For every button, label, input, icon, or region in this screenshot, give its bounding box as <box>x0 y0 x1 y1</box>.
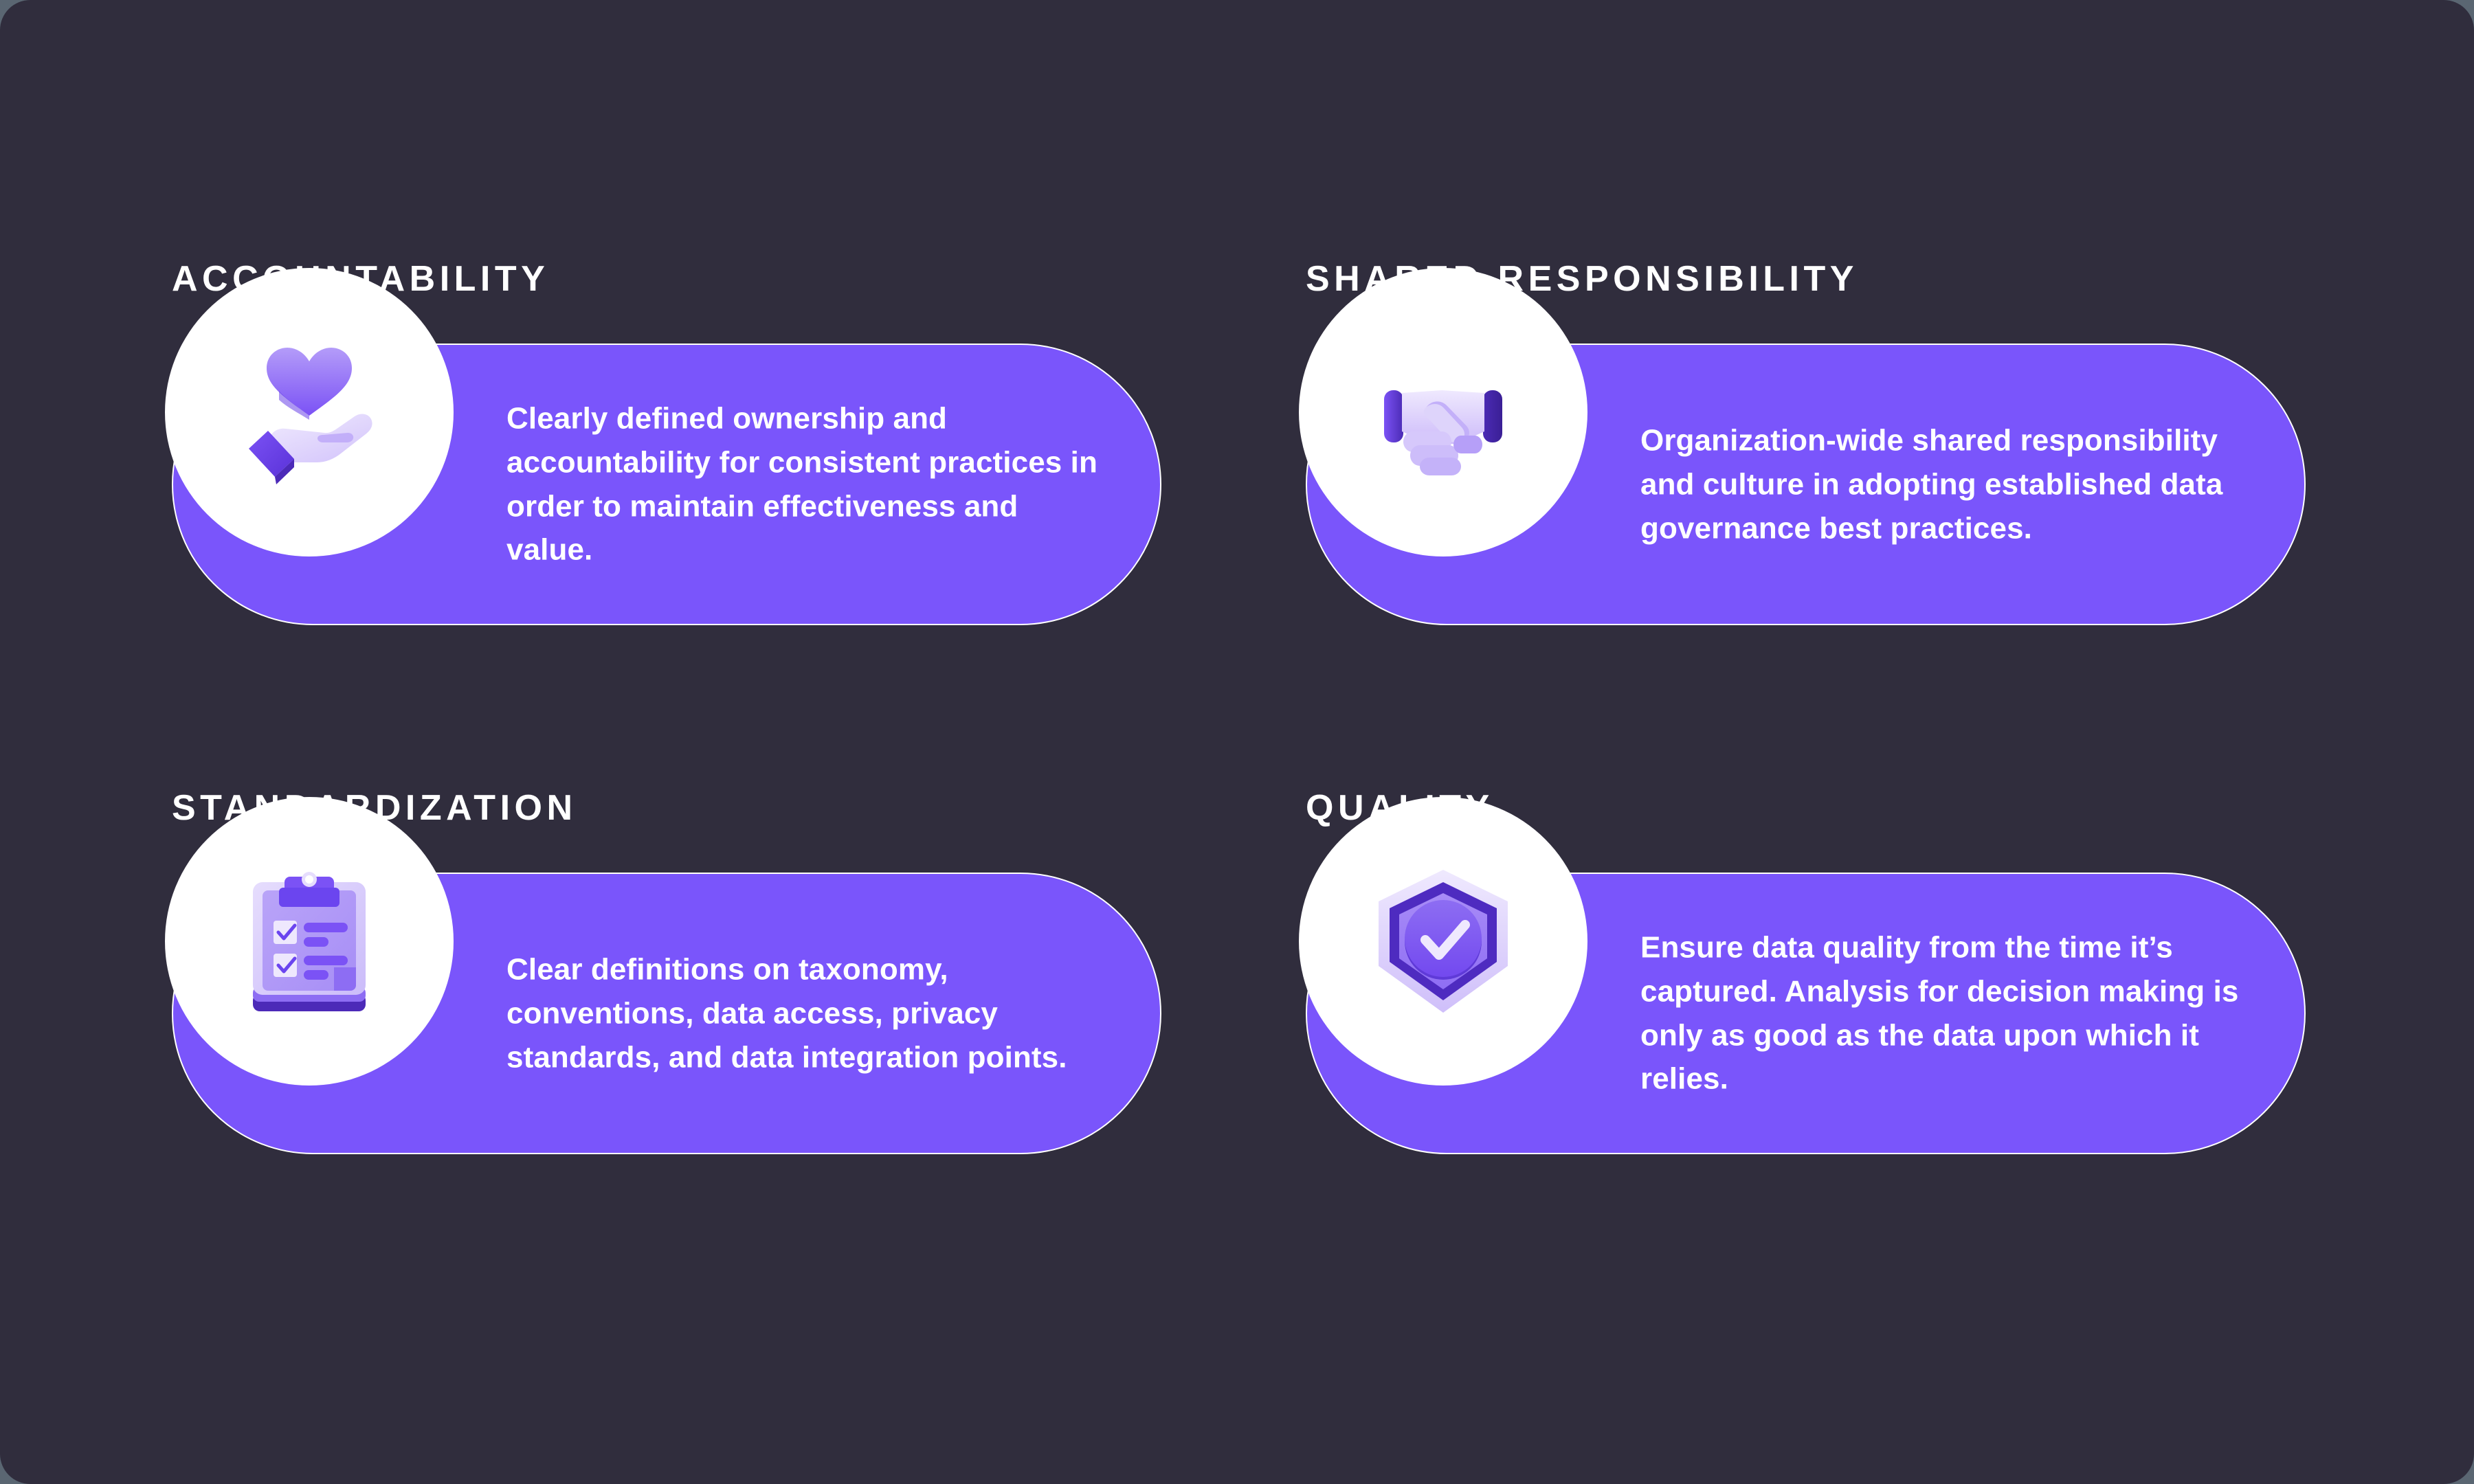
principle-card-accountability: ACCOUNTABILITY Clearly defined ownership… <box>172 261 1216 701</box>
icon-badge <box>1299 797 1587 1086</box>
principle-card-quality: QUALITY Ensure data quality from the tim… <box>1306 790 2350 1230</box>
infographic-canvas: ACCOUNTABILITY Clearly defined ownership… <box>0 0 2474 1484</box>
card-body-text: Clearly defined ownership and accountabi… <box>506 396 1111 572</box>
principle-card-shared-responsibility: SHARED RESPONSIBILITY Organization-wide … <box>1306 261 2350 701</box>
icon-badge <box>1299 268 1587 556</box>
clipboard-checklist-icon <box>220 852 399 1031</box>
icon-badge <box>165 268 454 556</box>
card-body-text: Clear definitions on taxonomy, conventio… <box>506 947 1111 1079</box>
principles-grid: ACCOUNTABILITY Clearly defined ownership… <box>172 261 2309 1237</box>
handshake-icon <box>1354 323 1533 502</box>
principle-card-standardization: STANDARDIZATION Clear definitions on tax… <box>172 790 1216 1230</box>
heart-in-hand-icon <box>220 323 399 502</box>
card-body-text: Ensure data quality from the time it’s c… <box>1640 925 2245 1101</box>
shield-check-icon <box>1354 852 1533 1031</box>
card-body-text: Organization-wide shared responsibility … <box>1640 418 2245 550</box>
icon-badge <box>165 797 454 1086</box>
